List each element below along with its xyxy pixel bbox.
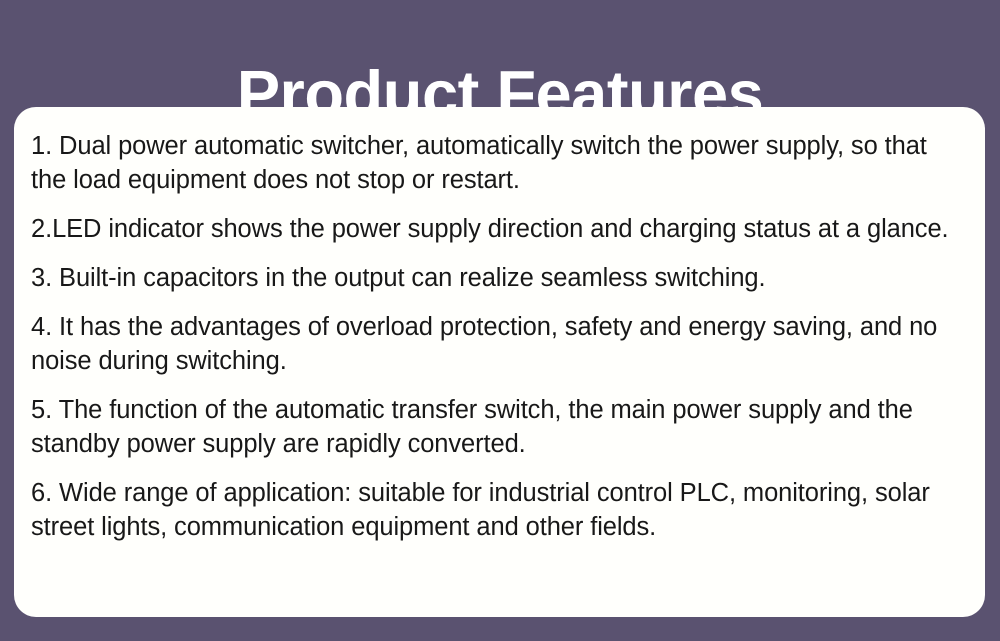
product-features-banner: Product Features 1. Dual power automatic… [0,0,1000,641]
list-item: 1. Dual power automatic switcher, automa… [31,129,967,197]
list-item: 4. It has the advantages of overload pro… [31,310,967,378]
features-list: 1. Dual power automatic switcher, automa… [31,129,967,544]
features-card: 1. Dual power automatic switcher, automa… [14,107,985,617]
list-item: 2.LED indicator shows the power supply d… [31,212,967,246]
list-item: 6. Wide range of application: suitable f… [31,476,967,544]
list-item: 3. Built-in capacitors in the output can… [31,261,967,295]
list-item: 5. The function of the automatic transfe… [31,393,967,461]
